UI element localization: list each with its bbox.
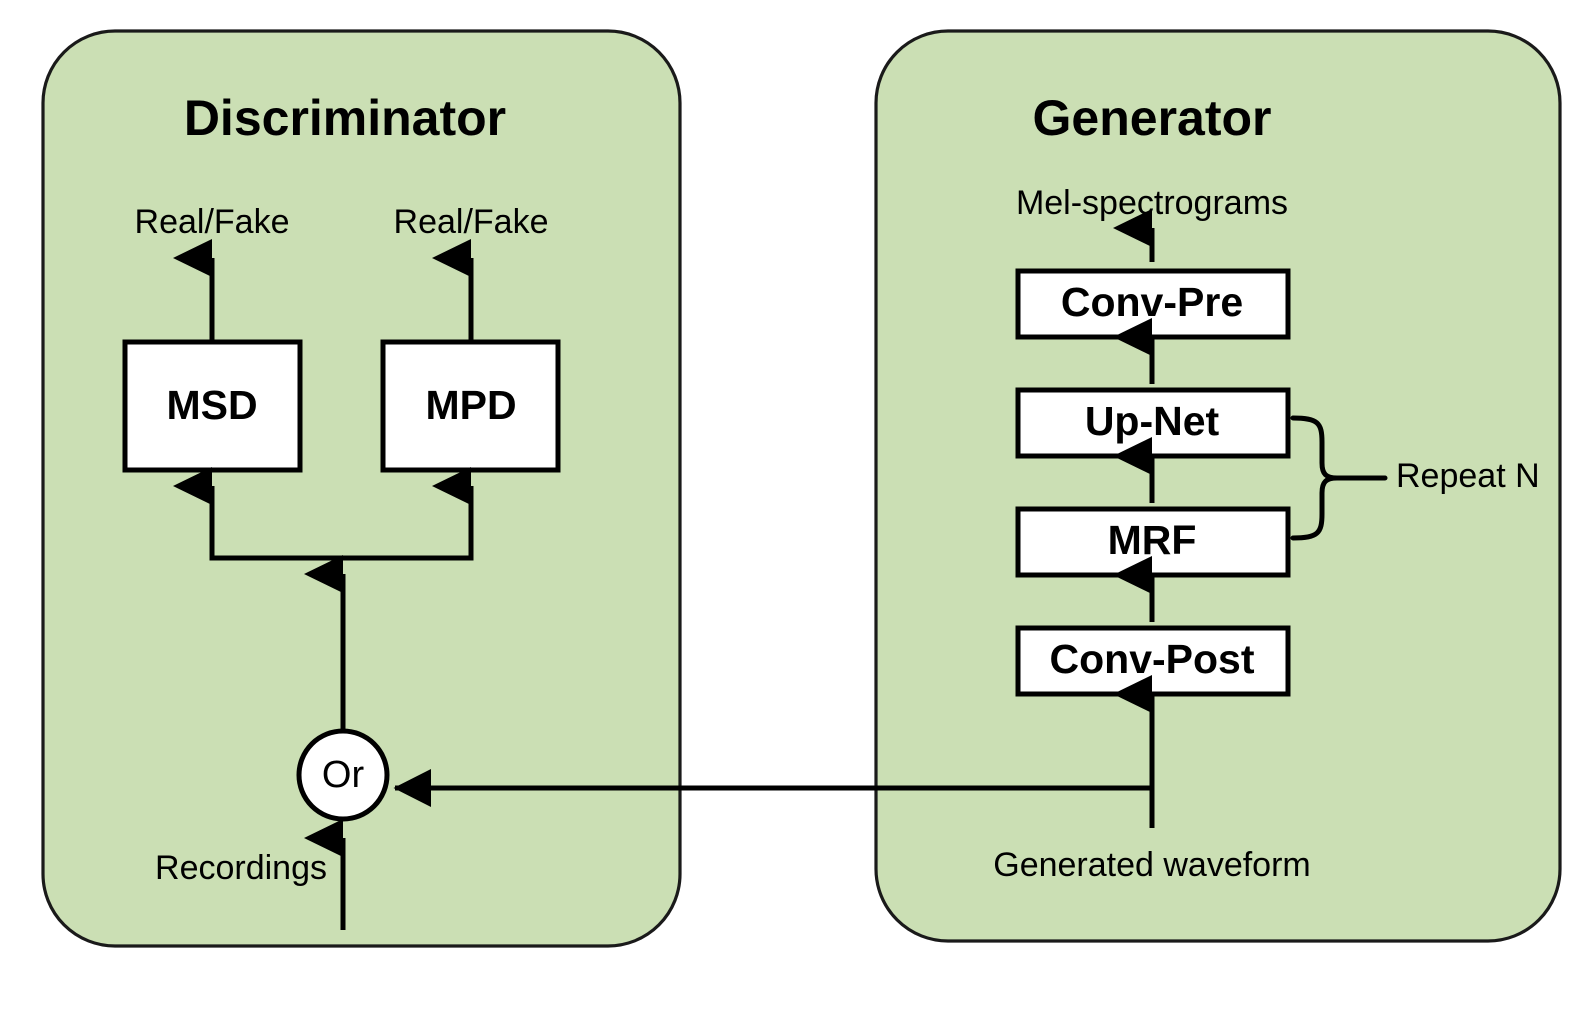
generator-title: Generator: [1033, 90, 1272, 146]
block-conv-pre[interactable]: Conv-Pre: [1018, 271, 1288, 337]
generator-output-label: Generated waveform: [993, 846, 1311, 884]
block-up-net[interactable]: Up-Net: [1018, 390, 1288, 456]
block-conv-post[interactable]: Conv-Post: [1018, 628, 1288, 694]
block-mpd[interactable]: MPD: [383, 342, 558, 470]
block-msd-label: MSD: [166, 382, 257, 428]
junction-or[interactable]: Or: [299, 731, 387, 819]
discriminator-output-label-mpd: Real/Fake: [394, 203, 549, 241]
block-msd[interactable]: MSD: [125, 342, 300, 470]
discriminator-output-label-msd: Real/Fake: [135, 203, 290, 241]
block-mrf[interactable]: MRF: [1018, 509, 1288, 575]
junction-or-label: Or: [322, 754, 365, 796]
block-mrf-label: MRF: [1108, 517, 1197, 563]
diagram-canvas: Discriminator Real/Fake Real/Fake MSD MP…: [0, 0, 1594, 1018]
discriminator-input-label: Recordings: [155, 849, 327, 887]
block-conv-post-label: Conv-Post: [1050, 636, 1255, 682]
generator-input-label: Mel-spectrograms: [1016, 184, 1288, 222]
discriminator-title: Discriminator: [184, 90, 506, 146]
block-mpd-label: MPD: [425, 382, 516, 428]
diagram-root: Discriminator Real/Fake Real/Fake MSD MP…: [0, 0, 1594, 1018]
block-up-net-label: Up-Net: [1085, 398, 1220, 444]
discriminator-panel: Discriminator Real/Fake Real/Fake MSD MP…: [43, 31, 680, 946]
generator-panel: Generator Mel-spectrograms Conv-Pre Up-N…: [876, 31, 1560, 941]
block-conv-pre-label: Conv-Pre: [1061, 279, 1243, 325]
repeat-n-label: Repeat N: [1396, 457, 1540, 495]
